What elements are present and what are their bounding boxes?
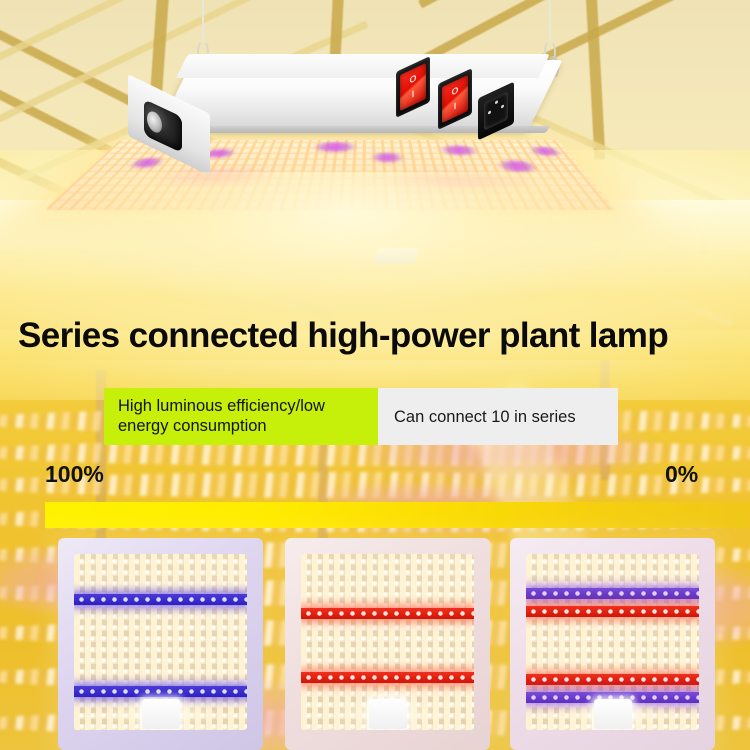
panel-gallery: [0, 538, 750, 750]
panel-1-surface: [74, 554, 247, 730]
panel-3-stripe-red-top: [526, 606, 699, 617]
panel-2-stripe-red-top: [301, 608, 474, 619]
panel-3-stripe-red-bottom: [526, 674, 699, 685]
product-poster: O I O I Series connected high-power plan…: [0, 0, 750, 750]
panel-2-driver-box: [369, 699, 407, 729]
led-array: [44, 140, 616, 210]
panel-1-stripe-blue-bottom: [74, 686, 247, 697]
panel-3-stripe-violet-top: [526, 588, 699, 599]
hero-grow-light: O I O I: [120, 52, 580, 237]
switch-1-face: O I: [400, 63, 426, 111]
brightness-gradient-bar: [45, 502, 750, 528]
left-hanger-wire: [202, 0, 204, 42]
socket-ground-pin: [495, 100, 498, 104]
badge-series: Can connect 10 in series: [378, 388, 618, 445]
panel-3-driver-box: [594, 699, 632, 729]
scale-label-min: 0%: [665, 463, 698, 486]
feature-badges: High luminous efficiency/low energy cons…: [104, 388, 618, 445]
lamp-housing-top: [176, 54, 550, 78]
scale-label-max: 100%: [45, 463, 104, 486]
panel-1-stripe-blue-top: [74, 594, 247, 605]
right-hanger-wire: [549, 0, 551, 42]
panel-1-driver-box: [142, 699, 180, 729]
panel-2-stripe-red-bottom: [301, 672, 474, 683]
lamp-driver-box: [372, 248, 419, 264]
panel-2[interactable]: [285, 538, 490, 750]
badge-efficiency: High luminous efficiency/low energy cons…: [104, 388, 378, 445]
switch-2-face: O I: [442, 75, 468, 123]
panel-3-surface: [526, 554, 699, 730]
panel-1[interactable]: [58, 538, 263, 750]
panel-3[interactable]: [510, 538, 715, 750]
socket-contacts: [484, 91, 508, 130]
panel-2-surface: [301, 554, 474, 730]
page-title: Series connected high-power plant lamp: [18, 318, 740, 353]
